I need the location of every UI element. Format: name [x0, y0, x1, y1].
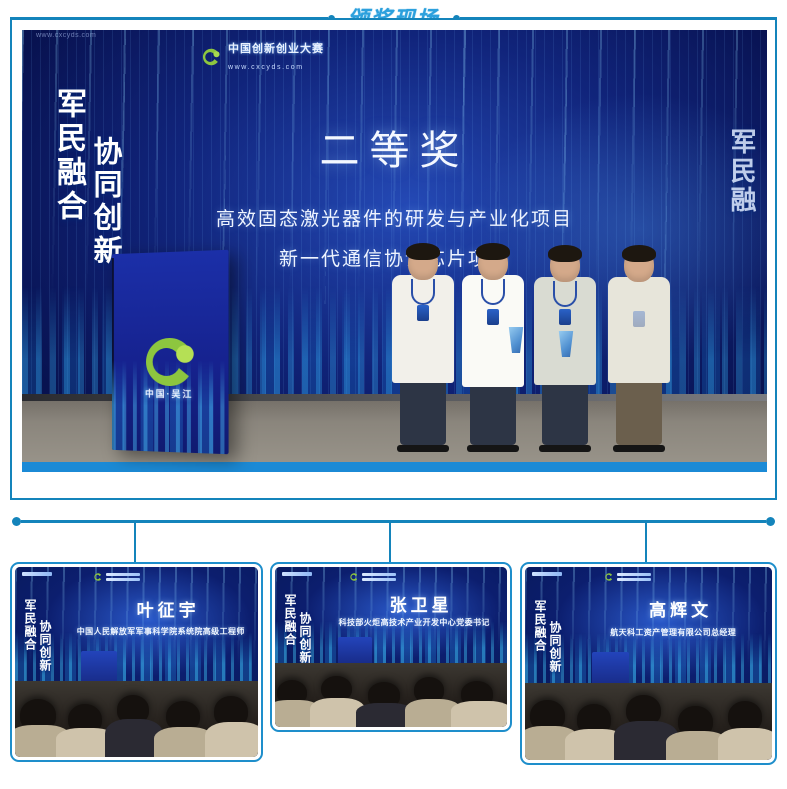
thumbnail-photo-3: 军民融合 协同创新 高辉文 航天科工资产管理有限公司总经理 — [525, 567, 772, 760]
recipient-body — [392, 275, 454, 383]
contest-name: 中国创新创业大赛 — [228, 43, 324, 55]
recipient-lanyard — [481, 279, 505, 305]
recipient-body — [462, 275, 524, 387]
audience-area-2 — [275, 663, 507, 727]
main-photo-frame: www.cxcyds.com 中国创新创业大赛 www.cxcyds.com 军… — [10, 18, 777, 500]
thumb-venue-logo — [22, 572, 52, 576]
recipient-2 — [462, 246, 524, 452]
thumb-venue-logo — [282, 572, 312, 576]
page-root: 颁奖现场 www.cxcyds.com 中国创新创业大赛 — [0, 0, 787, 789]
recipient-legs — [470, 387, 516, 445]
divider-line — [21, 520, 766, 523]
thumbnail-divider — [0, 512, 787, 530]
recipient-badge — [559, 309, 571, 325]
recipient-shoes — [397, 445, 449, 452]
main-photo: www.cxcyds.com 中国创新创业大赛 www.cxcyds.com 军… — [22, 30, 767, 472]
thumb-contest-logo — [604, 572, 651, 582]
recipient-head — [550, 248, 580, 282]
recipient-lanyard — [411, 279, 435, 305]
speaker-name-1: 叶征宇 — [88, 596, 248, 621]
recipient-badge — [417, 305, 429, 321]
recipient-body — [608, 277, 670, 383]
recipient-lanyard — [553, 281, 577, 307]
recipient-badge — [633, 311, 645, 327]
award-project-1: 高效固态激光器件的研发与产业化项目 — [22, 204, 767, 231]
audience-shoulder — [718, 728, 772, 760]
recipient-legs — [542, 385, 588, 445]
divider-dot-left-icon — [12, 517, 21, 526]
thumb-slogan-2: 协同创新 — [547, 621, 564, 673]
recipient-head — [408, 246, 438, 280]
thumbnail-photo-1: 军民融合 协同创新 叶征宇 中国人民解放军军事科学院系统院高级工程师 — [15, 567, 258, 757]
recipient-3 — [534, 248, 596, 452]
thumbnail-card-3[interactable]: 军民融合 协同创新 高辉文 航天科工资产管理有限公司总经理 — [520, 562, 777, 765]
thumb-contest-logo-bars — [106, 573, 140, 581]
audience-area-1 — [15, 681, 258, 757]
divider-dot-right-icon — [766, 517, 775, 526]
podium-caption: 中国·吴江 — [112, 386, 229, 401]
speaker-name-3: 高辉文 — [599, 596, 762, 621]
contest-logo: 中国创新创业大赛 www.cxcyds.com — [200, 40, 324, 74]
thumbnail-photo-2: 军民融合 协同创新 张卫星 科技部火炬高技术产业开发中心党委书记 — [275, 567, 507, 727]
thumb-contest-logo-bars — [617, 573, 651, 581]
thumb-contest-logo — [349, 572, 396, 582]
recipient-head — [624, 248, 654, 282]
recipient-legs — [616, 383, 662, 445]
trophy-icon — [506, 327, 526, 353]
recipient-shoes — [467, 445, 519, 452]
connector-line-2 — [389, 521, 391, 563]
thumb-contest-logo — [93, 572, 140, 582]
photo-watermark: www.cxcyds.com — [36, 32, 96, 39]
green-c-logo-icon — [200, 46, 222, 68]
audience-shoulder — [205, 722, 258, 757]
recipient-hair — [548, 245, 582, 262]
speaker-name-2: 张卫星 — [345, 591, 498, 616]
green-c-logo-icon — [349, 572, 359, 582]
recipient-hair — [622, 245, 656, 262]
recipient-hair — [406, 243, 440, 260]
thumb-contest-logo-bars — [362, 573, 396, 581]
recipient-1 — [392, 246, 454, 452]
award-title: 二等奖 — [22, 118, 767, 176]
thumb-slogan-2: 协同创新 — [37, 620, 54, 672]
connector-line-1 — [134, 521, 136, 563]
thumb-venue-logo-bar — [22, 572, 52, 576]
stage-floor-blue-strip — [22, 462, 767, 472]
recipient-head — [478, 246, 508, 280]
recipient-hair — [476, 243, 510, 260]
thumb-venue-logo — [532, 572, 562, 576]
thumbnail-card-1[interactable]: 军民融合 协同创新 叶征宇 中国人民解放军军事科学院系统院高级工程师 — [10, 562, 263, 762]
contest-logo-text: 中国创新创业大赛 www.cxcyds.com — [228, 40, 324, 74]
podium: 中国·吴江 — [112, 250, 229, 454]
recipient-4 — [608, 248, 670, 452]
thumb-venue-logo-bar — [532, 572, 562, 576]
audience-shoulder — [451, 701, 507, 727]
thumb-slogan-2: 协同创新 — [297, 612, 314, 664]
thumb-venue-logo-bar — [282, 572, 312, 576]
audience-area-3 — [525, 683, 772, 760]
recipient-badge — [487, 309, 499, 325]
green-c-logo-icon — [604, 572, 614, 582]
recipient-body — [534, 277, 596, 385]
contest-url: www.cxcyds.com — [228, 64, 304, 71]
recipient-shoes — [613, 445, 665, 452]
connector-line-3 — [645, 521, 647, 563]
recipient-shoes — [539, 445, 591, 452]
recipient-legs — [400, 383, 446, 445]
trophy-icon — [556, 331, 576, 357]
green-c-logo-icon — [93, 572, 103, 582]
thumbnail-card-2[interactable]: 军民融合 协同创新 张卫星 科技部火炬高技术产业开发中心党委书记 — [270, 562, 512, 732]
